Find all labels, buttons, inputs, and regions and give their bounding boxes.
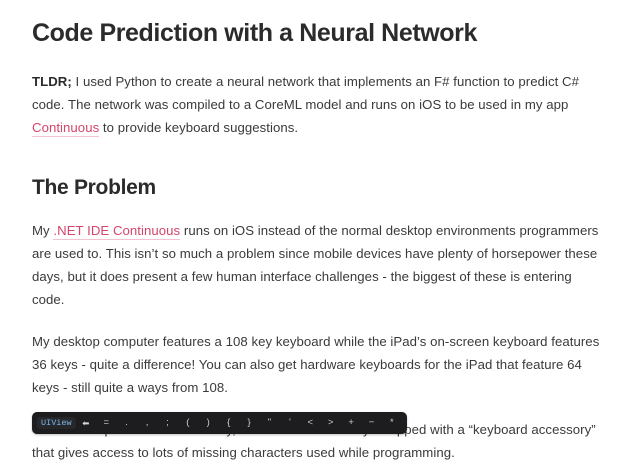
double-quote-key[interactable]: "	[259, 418, 279, 428]
period-key[interactable]: .	[116, 418, 136, 428]
greater-than-key[interactable]: >	[320, 418, 340, 428]
less-than-key[interactable]: <	[300, 418, 320, 428]
paragraph-problem-2: My desktop computer features a 108 key k…	[32, 311, 608, 399]
article-page: Code Prediction with a Neural Network TL…	[0, 0, 640, 442]
continuous-app-link[interactable]: Continuous	[32, 120, 99, 137]
plus-key[interactable]: +	[341, 418, 361, 428]
keyboard-accessory-bar[interactable]: UIView ⬅=.,;(){}"'<>+−*	[32, 412, 407, 434]
tldr-text-before-link: I used Python to create a neural network…	[32, 74, 579, 112]
tldr-label: TLDR;	[32, 74, 72, 89]
tldr-paragraph: TLDR; I used Python to create a neural n…	[32, 48, 608, 139]
tldr-text-after-link: to provide keyboard suggestions.	[99, 120, 298, 135]
brace-close-key[interactable]: }	[239, 418, 259, 428]
equals-key[interactable]: =	[96, 418, 116, 428]
suggestion-token-uiview[interactable]: UIView	[37, 417, 76, 430]
semicolon-key[interactable]: ;	[157, 418, 177, 428]
paragraph-problem-1: My .NET IDE Continuous runs on iOS inste…	[32, 200, 608, 311]
comma-key[interactable]: ,	[137, 418, 157, 428]
tab-left-arrow-icon[interactable]: ⬅	[76, 419, 96, 428]
single-quote-key[interactable]: '	[280, 418, 300, 428]
dotnet-ide-continuous-link[interactable]: .NET IDE Continuous	[53, 223, 180, 240]
paren-close-key[interactable]: )	[198, 418, 218, 428]
brace-open-key[interactable]: {	[218, 418, 238, 428]
section-heading-the-problem: The Problem	[32, 139, 608, 200]
minus-key[interactable]: −	[361, 418, 381, 428]
paragraph-1-text-before-link: My	[32, 223, 53, 238]
asterisk-key[interactable]: *	[382, 418, 402, 428]
paren-open-key[interactable]: (	[178, 418, 198, 428]
page-title: Code Prediction with a Neural Network	[32, 0, 608, 48]
